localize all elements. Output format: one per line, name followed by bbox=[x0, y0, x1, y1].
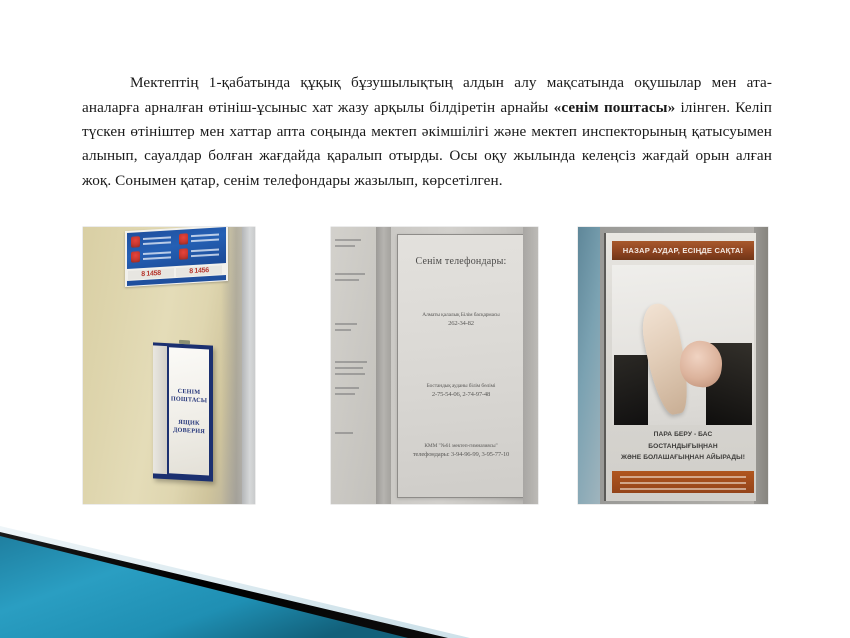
photo-trust-phones: Сенім телефондары: Алматы қалалық Білім … bbox=[331, 227, 538, 504]
emblem-icon bbox=[131, 236, 140, 248]
notice-right-wall bbox=[523, 227, 538, 504]
photo-trust-mailbox: 8 1458 8 1456 СЕНІМ ПОШТАСЫ ЯЩИК ДОВЕРИЯ bbox=[83, 227, 255, 504]
corner-shape-teal bbox=[0, 536, 408, 638]
poster-message-line1: ПАРА БЕРУ - БАС bbox=[654, 431, 713, 438]
trust-phones-notice: Сенім телефондары: Алматы қалалық Білім … bbox=[397, 234, 525, 498]
poster-banner-text: НАЗАР АУДАР, ЕСІҢДЕ САҚТА! bbox=[623, 246, 744, 255]
slide-canvas: Мектептің 1-қабатында құқық бұзушылықтың… bbox=[0, 0, 850, 638]
poster-message-line2: БОСТАНДЫҒЫҢНАН bbox=[648, 443, 717, 450]
mailbox-label-ru-line2: ДОВЕРИЯ bbox=[173, 426, 205, 435]
mailbox-slot bbox=[179, 340, 190, 345]
emblem-icon bbox=[179, 248, 188, 260]
poster-banner: НАЗАР АУДАР, ЕСІҢДЕ САҚТА! bbox=[612, 241, 754, 260]
info-poster-blue-field bbox=[127, 227, 226, 269]
emblem-icon bbox=[131, 251, 140, 263]
notice-entry-phone: телефондары: 3-94-96-99, 3-95-77-10 bbox=[402, 450, 520, 460]
poster-right-wall bbox=[754, 227, 768, 504]
adjacent-paper-sheet bbox=[331, 227, 376, 504]
poster-left-wall bbox=[578, 227, 600, 504]
anticorruption-poster: НАЗАР АУДАР, ЕСІҢДЕ САҚТА! ПАРА БЕРУ - Б… bbox=[604, 233, 756, 501]
notice-entry-phone: 2-75-54-06, 2-74-97-48 bbox=[402, 390, 520, 400]
poster-illustration bbox=[612, 265, 754, 425]
notice-entry: Бостандық ауданы білім бөлімі 2-75-54-06… bbox=[402, 382, 520, 400]
notice-entry: Алматы қалалық Білім басқармасы 262-34-8… bbox=[402, 311, 520, 329]
mailbox-side-panel bbox=[153, 345, 167, 474]
poster-fineprint-band bbox=[612, 471, 754, 493]
mailbox-label-kk: СЕНІМ ПОШТАСЫ bbox=[171, 387, 207, 404]
door-frame bbox=[376, 227, 391, 504]
corner-decoration bbox=[0, 508, 470, 638]
corner-shape-black bbox=[0, 532, 448, 638]
notice-title: Сенім телефондары: bbox=[398, 256, 524, 267]
mailbox-label-ru: ЯЩИК ДОВЕРИЯ bbox=[173, 418, 205, 435]
wall-info-poster: 8 1458 8 1456 bbox=[125, 227, 228, 287]
photo-anticorruption-poster: НАЗАР АУДАР, ЕСІҢДЕ САҚТА! ПАРА БЕРУ - Б… bbox=[578, 227, 768, 504]
info-poster-column-left bbox=[130, 233, 176, 266]
mailbox-front-panel: СЕНІМ ПОШТАСЫ ЯЩИК ДОВЕРИЯ bbox=[169, 347, 209, 475]
corner-shape-pale bbox=[0, 526, 470, 638]
notice-entry-name: Алматы қалалық Білім басқармасы bbox=[402, 311, 520, 319]
wall-corner-edge bbox=[242, 227, 255, 504]
trust-mailbox: СЕНІМ ПОШТАСЫ ЯЩИК ДОВЕРИЯ bbox=[153, 342, 213, 481]
emblem-icon bbox=[179, 233, 188, 245]
body-text-emphasis: «сенім поштасы» bbox=[554, 99, 676, 116]
poster-message-line3: ЖӘНЕ БОЛАШАҒЫҢНАН АЙЫРАДЫ! bbox=[621, 454, 745, 461]
notice-entry-name: Бостандық ауданы білім бөлімі bbox=[402, 382, 520, 390]
mailbox-label-kk-line2: ПОШТАСЫ bbox=[171, 395, 207, 404]
slide-body-paragraph: Мектептің 1-қабатында құқық бұзушылықтың… bbox=[82, 71, 772, 193]
info-poster-column-right bbox=[178, 230, 224, 263]
dark-sleeve-left bbox=[614, 355, 648, 425]
notice-entry-phone: 262-34-82 bbox=[402, 319, 520, 329]
notice-entry-name: КММ "№61 мектеп-гимназиясы" bbox=[402, 442, 520, 450]
notice-entry: КММ "№61 мектеп-гимназиясы" телефондары:… bbox=[402, 442, 520, 460]
poster-message: ПАРА БЕРУ - БАС БОСТАНДЫҒЫҢНАН ЖӘНЕ БОЛА… bbox=[612, 429, 754, 464]
